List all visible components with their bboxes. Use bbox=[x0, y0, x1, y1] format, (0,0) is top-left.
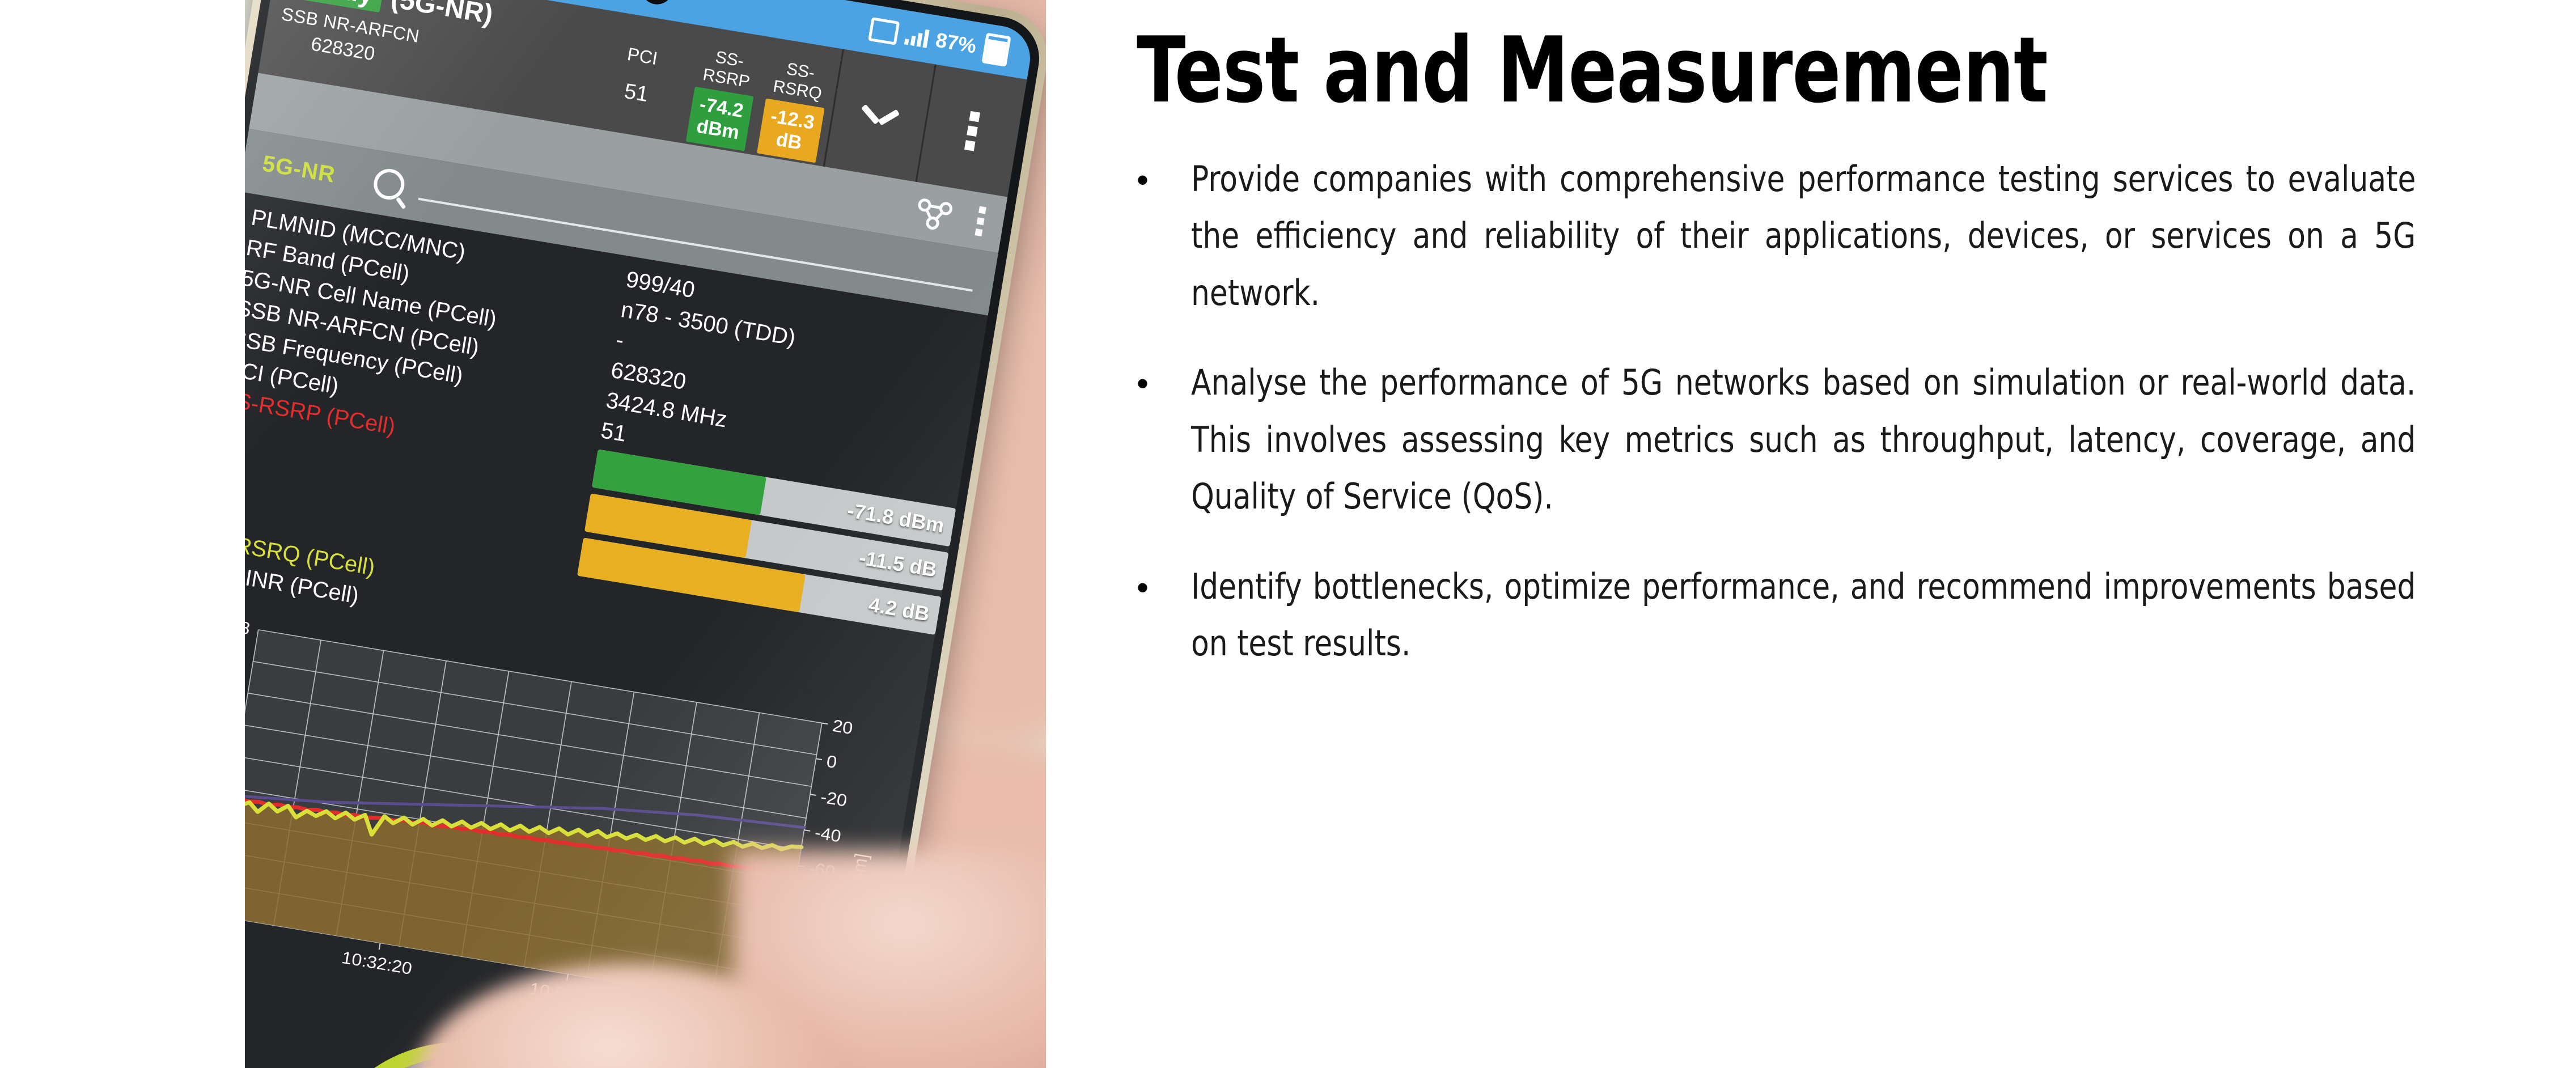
svg-text:-20: -20 bbox=[819, 787, 848, 811]
metric-value: -12.3 dB bbox=[757, 99, 825, 163]
bar-label: -11.5 dB bbox=[858, 548, 938, 580]
bullet-marker: • bbox=[1137, 354, 1191, 525]
metric-ss-rsrq: SS-RSRQ -12.3 dB bbox=[757, 57, 832, 163]
svg-text:0: 0 bbox=[825, 752, 838, 772]
bullet-list: • Provide companies with comprehensive p… bbox=[1137, 151, 2508, 672]
metric-label: SS-RSRP bbox=[696, 45, 761, 93]
list-item: • Identify bottlenecks, optimize perform… bbox=[1137, 558, 2508, 672]
pci-value: 51 bbox=[578, 72, 694, 115]
list-item: • Analyse the performance of 5G networks… bbox=[1137, 354, 2508, 525]
search-icon bbox=[372, 167, 407, 202]
svg-text:28: 28 bbox=[245, 616, 252, 638]
bar-label: 4.2 dB bbox=[867, 594, 931, 624]
list-item: • Provide companies with comprehensive p… bbox=[1137, 151, 2508, 321]
front-camera-punch-hole-icon bbox=[639, 0, 675, 7]
battery-icon bbox=[981, 33, 1011, 67]
content-pane: Test and Measurement • Provide companies… bbox=[1046, 0, 2576, 1068]
kebab-menu-icon[interactable] bbox=[975, 206, 986, 236]
svg-text:21: 21 bbox=[245, 648, 246, 670]
pci-label: PCI bbox=[585, 37, 700, 76]
overflow-menu-button[interactable] bbox=[916, 64, 1027, 197]
pci-block: PCI 51 bbox=[574, 8, 705, 144]
svg-text:20: 20 bbox=[831, 716, 854, 738]
chevron-down-icon bbox=[861, 103, 899, 128]
tab-5g-nr[interactable]: 5G-NR bbox=[261, 151, 337, 188]
svg-text:-40: -40 bbox=[814, 823, 842, 846]
bullet-text: Analyse the performance of 5G networks b… bbox=[1191, 354, 2416, 525]
battery-percent-label: 87% bbox=[934, 28, 978, 58]
cast-icon bbox=[868, 17, 900, 45]
page-title: Test and Measurement bbox=[1137, 23, 2344, 118]
network-topology-icon[interactable] bbox=[913, 194, 957, 233]
slide-root: 10:33 Q 87% Ready(5G-NR) SSB NR- bbox=[0, 0, 2576, 1068]
kebab-menu-icon bbox=[964, 111, 980, 151]
metric-value: -74.2 dBm bbox=[686, 87, 754, 151]
bullet-text: Identify bottlenecks, optimize performan… bbox=[1191, 558, 2416, 672]
signal-bars-icon bbox=[904, 26, 930, 48]
bar-label: -71.8 dBm bbox=[846, 500, 946, 536]
bullet-text: Provide companies with comprehensive per… bbox=[1191, 151, 2416, 321]
metric-label: SS-RSRQ bbox=[766, 57, 832, 105]
bullet-marker: • bbox=[1137, 151, 1191, 321]
svg-text:10:32:20: 10:32:20 bbox=[340, 948, 413, 978]
app-bar-metrics: SS-RSRP -74.2 dBm SS-RSRQ -12.3 dB bbox=[685, 26, 842, 166]
bullet-marker: • bbox=[1137, 558, 1191, 672]
phone-photo: 10:33 Q 87% Ready(5G-NR) SSB NR- bbox=[245, 0, 1046, 1068]
